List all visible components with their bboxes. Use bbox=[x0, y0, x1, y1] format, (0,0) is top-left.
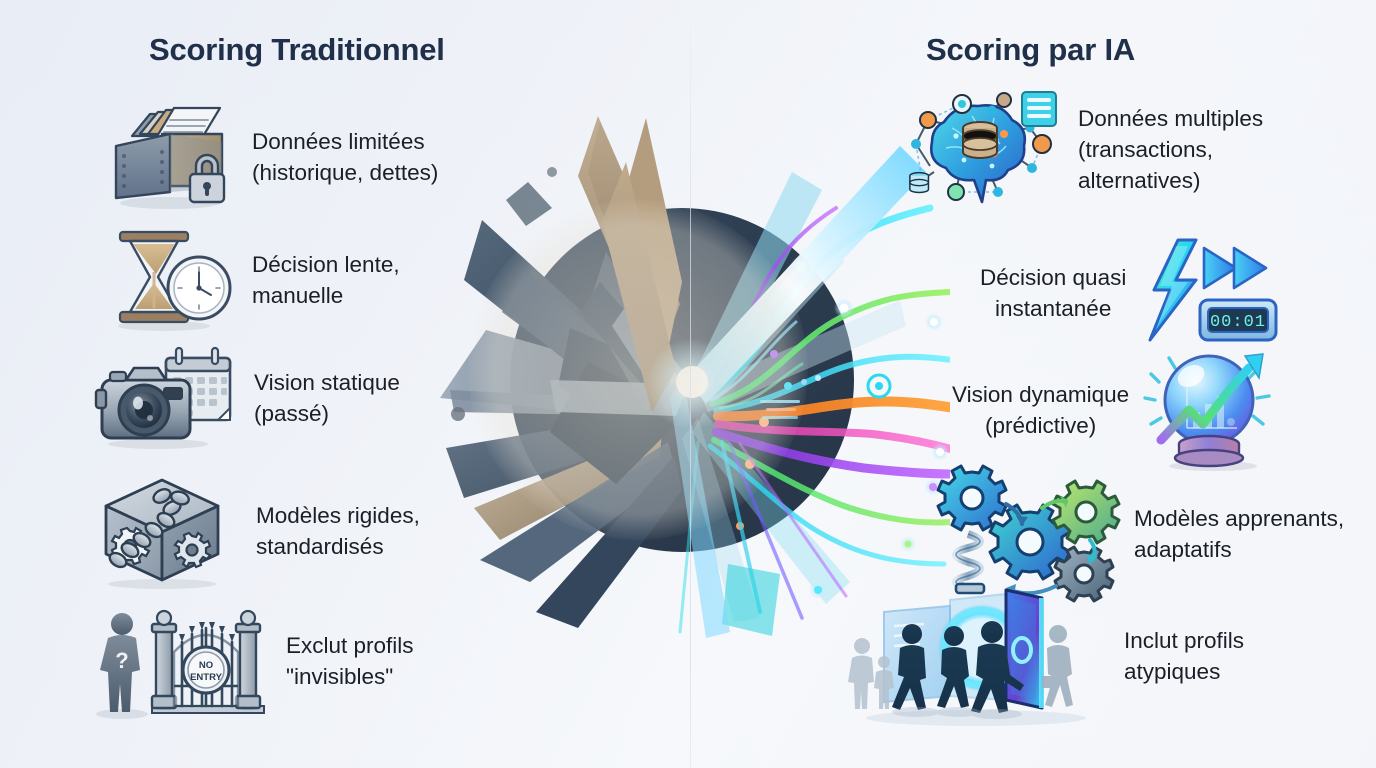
list-item-left-3-label: Vision statique (passé) bbox=[254, 367, 400, 429]
split-burst-illustration bbox=[430, 112, 950, 652]
hourglass-clock-icon bbox=[104, 228, 234, 332]
open-portal-people-icon bbox=[846, 584, 1106, 728]
adaptive-gears-spring-icon bbox=[930, 470, 1116, 598]
crystal-ball-growth-icon bbox=[1145, 348, 1277, 472]
list-item-left-1-label: Données limitées (historique, dettes) bbox=[252, 126, 438, 188]
svg-text:?: ? bbox=[115, 648, 128, 673]
camera-calendar-icon bbox=[96, 344, 236, 452]
list-item-right-5-label: Inclut profils atypiques bbox=[1124, 625, 1244, 687]
heading-traditional-scoring: Scoring Traditionnel bbox=[149, 32, 445, 68]
list-item-left-5: ? bbox=[88, 598, 414, 724]
no-entry-line2: ENTRY bbox=[190, 672, 223, 683]
list-item-left-3: Vision statique (passé) bbox=[96, 344, 400, 452]
list-item-left-4: Modèles rigides, standardisés bbox=[88, 472, 420, 590]
timer-display-value: 00:01 bbox=[1210, 313, 1266, 332]
list-item-right-2-label: Décision quasi instantanée bbox=[980, 262, 1126, 324]
heading-ai-scoring: Scoring par IA bbox=[926, 32, 1135, 68]
no-entry-line1: NO bbox=[199, 660, 213, 671]
list-item-right-1-label: Données multiples (transactions, alterna… bbox=[1078, 103, 1263, 196]
list-item-right-5: Inclut profils atypiques bbox=[846, 584, 1244, 728]
infographic-canvas: Scoring Traditionnel Scoring par IA bbox=[0, 0, 1376, 768]
gate-no-entry-icon: ? bbox=[88, 598, 268, 724]
brain-network-database-icon bbox=[900, 88, 1060, 210]
list-item-left-2: Décision lente, manuelle bbox=[104, 228, 400, 332]
database-cylinder-icon bbox=[963, 122, 997, 158]
list-item-right-1: Données multiples (transactions, alterna… bbox=[900, 88, 1263, 210]
left-halo bbox=[468, 200, 808, 540]
list-item-left-4-label: Modèles rigides, standardisés bbox=[256, 500, 420, 562]
list-item-right-3-label: Vision dynamique (prédictive) bbox=[952, 379, 1129, 441]
list-item-right-3: Vision dynamique (prédictive) bbox=[952, 348, 1277, 472]
list-item-left-2-label: Décision lente, manuelle bbox=[252, 249, 400, 311]
center-divider bbox=[690, 0, 691, 768]
list-item-right-2: Décision quasi instantanée bbox=[980, 240, 1282, 346]
chained-gear-box-icon bbox=[88, 472, 238, 590]
list-item-right-4: Modèles apprenants, adaptatifs bbox=[930, 470, 1344, 598]
list-item-left-5-label: Exclut profils "invisibles" bbox=[286, 630, 414, 692]
list-item-right-4-label: Modèles apprenants, adaptatifs bbox=[1134, 503, 1344, 565]
lightning-fastforward-timer-icon: 00:01 bbox=[1142, 240, 1282, 346]
list-item-left-1: Données limitées (historique, dettes) bbox=[104, 104, 438, 210]
locked-file-box-icon bbox=[104, 104, 234, 210]
